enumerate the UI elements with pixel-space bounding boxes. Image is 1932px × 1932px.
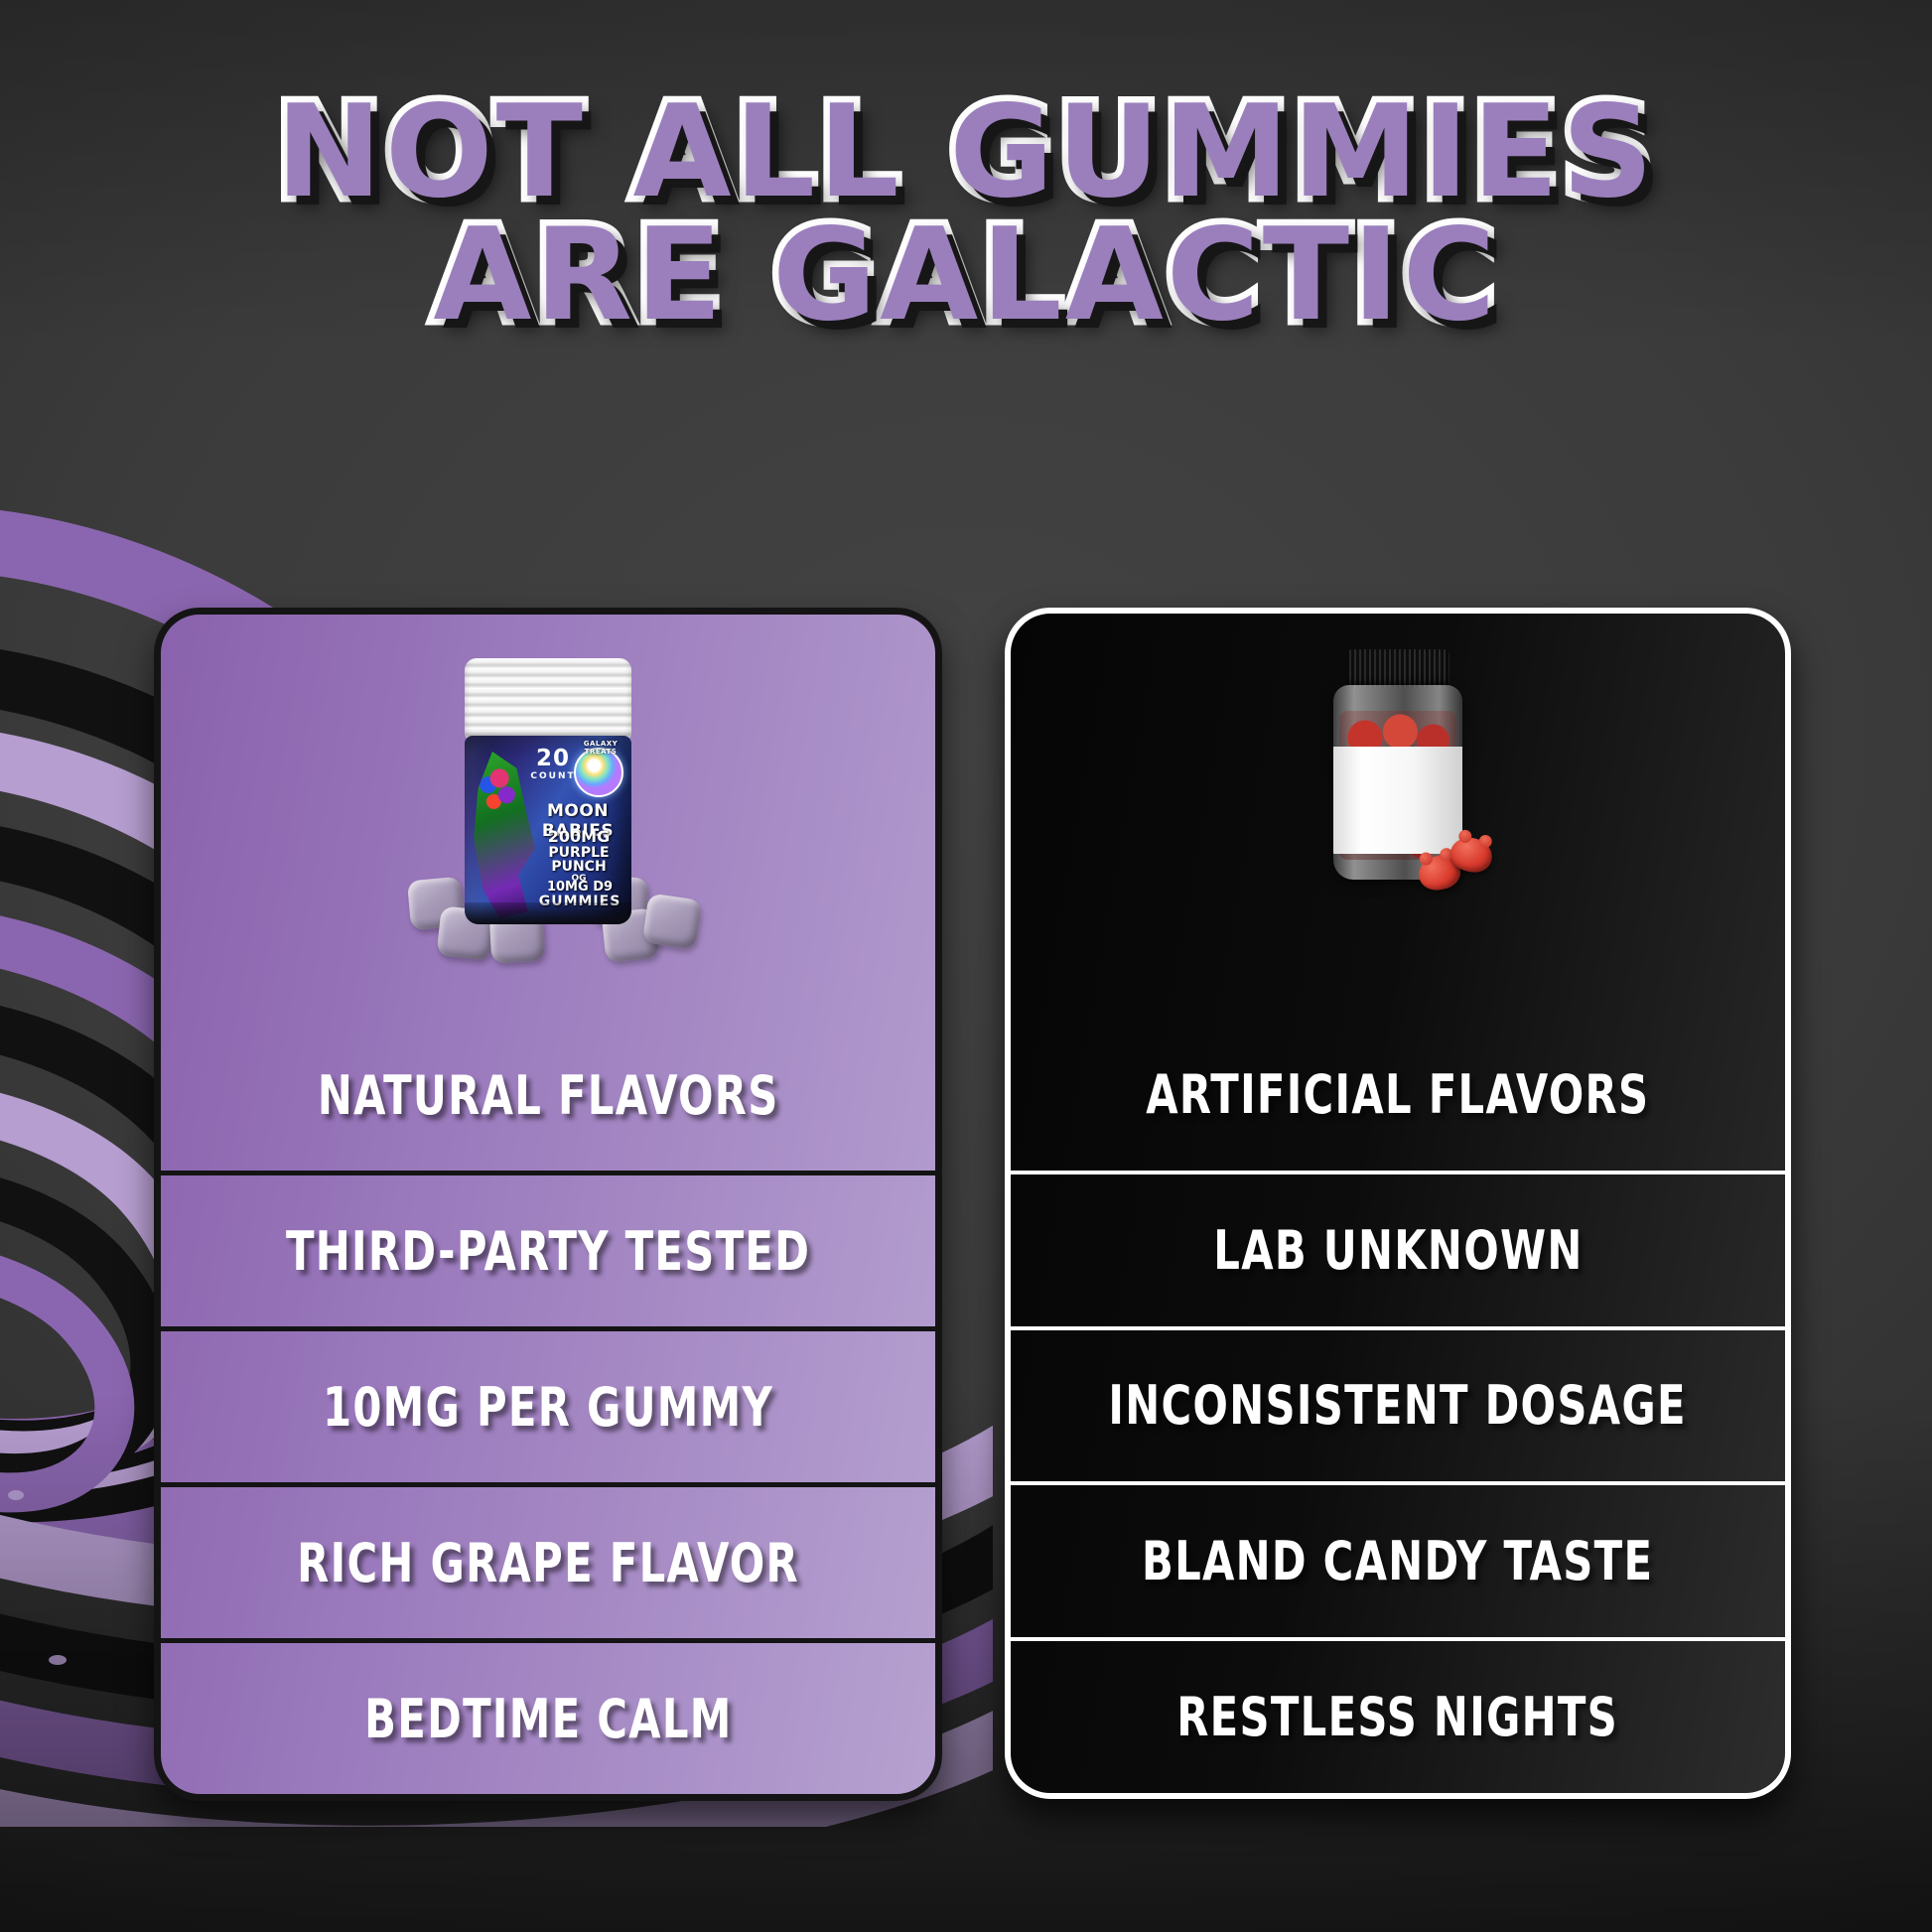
gummy-cube: [642, 893, 702, 949]
generic-gummies-card: ARTIFICIAL FLAVORS LAB UNKNOWN INCONSIST…: [1005, 608, 1791, 1799]
list-item: ARTIFICIAL FLAVORS: [1011, 1019, 1785, 1171]
feature-label: LAB UNKNOWN: [1213, 1219, 1583, 1282]
feature-label: INCONSISTENT DOSAGE: [1109, 1374, 1687, 1437]
unbranded-gummy-bottle: [1333, 649, 1462, 880]
feature-label: BEDTIME CALM: [364, 1688, 732, 1750]
jar-strain: PURPLE PUNCH: [526, 846, 631, 875]
feature-label: RESTLESS NIGHTS: [1177, 1686, 1619, 1748]
list-item: BLAND CANDY TASTE: [1011, 1481, 1785, 1637]
generic-product-image: [1011, 614, 1785, 1019]
jar-per-piece: 10MG D9: [528, 881, 631, 895]
list-item: THIRD-PARTY TESTED: [161, 1171, 935, 1326]
jar-potency: 200MG: [526, 829, 631, 846]
bottle-cap: [1346, 649, 1449, 687]
feature-label: BLAND CANDY TASTE: [1142, 1530, 1653, 1592]
moon-babies-product-image: 20 COUNT GALAXY TREATS MOON BABIES 200MG…: [161, 615, 935, 1020]
poster-canvas: NOT ALL GUMMIES ARE GALACTIC: [0, 0, 1932, 1932]
list-item: BEDTIME CALM: [161, 1638, 935, 1794]
jar-cap: [465, 658, 631, 740]
moon-babies-jar: 20 COUNT GALAXY TREATS MOON BABIES 200MG…: [465, 658, 631, 924]
feature-label: NATURAL FLAVORS: [318, 1064, 779, 1127]
comparison-grid: 20 COUNT GALAXY TREATS MOON BABIES 200MG…: [0, 0, 1932, 1932]
list-item: LAB UNKNOWN: [1011, 1171, 1785, 1326]
list-item: NATURAL FLAVORS: [161, 1020, 935, 1171]
feature-label: ARTIFICIAL FLAVORS: [1146, 1063, 1649, 1126]
list-item: RESTLESS NIGHTS: [1011, 1637, 1785, 1793]
jar-potency-block: 200MG PURPLE PUNCH OG: [526, 829, 631, 884]
list-item: RICH GRAPE FLAVOR: [161, 1482, 935, 1638]
jar-base-shadow: [465, 902, 631, 924]
jar-label: 20 COUNT GALAXY TREATS MOON BABIES 200MG…: [465, 736, 631, 924]
bad-feature-list: ARTIFICIAL FLAVORS LAB UNKNOWN INCONSIST…: [1011, 1019, 1785, 1793]
feature-label: 10MG PER GUMMY: [323, 1376, 773, 1439]
list-item: 10MG PER GUMMY: [161, 1326, 935, 1482]
blank-label: [1333, 747, 1462, 854]
galaxy-treats-logo-text: GALAXY TREATS: [572, 740, 629, 756]
good-feature-list: NATURAL FLAVORS THIRD-PARTY TESTED 10MG …: [161, 1020, 935, 1794]
galactic-gummies-card: 20 COUNT GALAXY TREATS MOON BABIES 200MG…: [154, 608, 942, 1801]
feature-label: RICH GRAPE FLAVOR: [297, 1532, 799, 1594]
list-item: INCONSISTENT DOSAGE: [1011, 1326, 1785, 1482]
feature-label: THIRD-PARTY TESTED: [286, 1220, 810, 1283]
